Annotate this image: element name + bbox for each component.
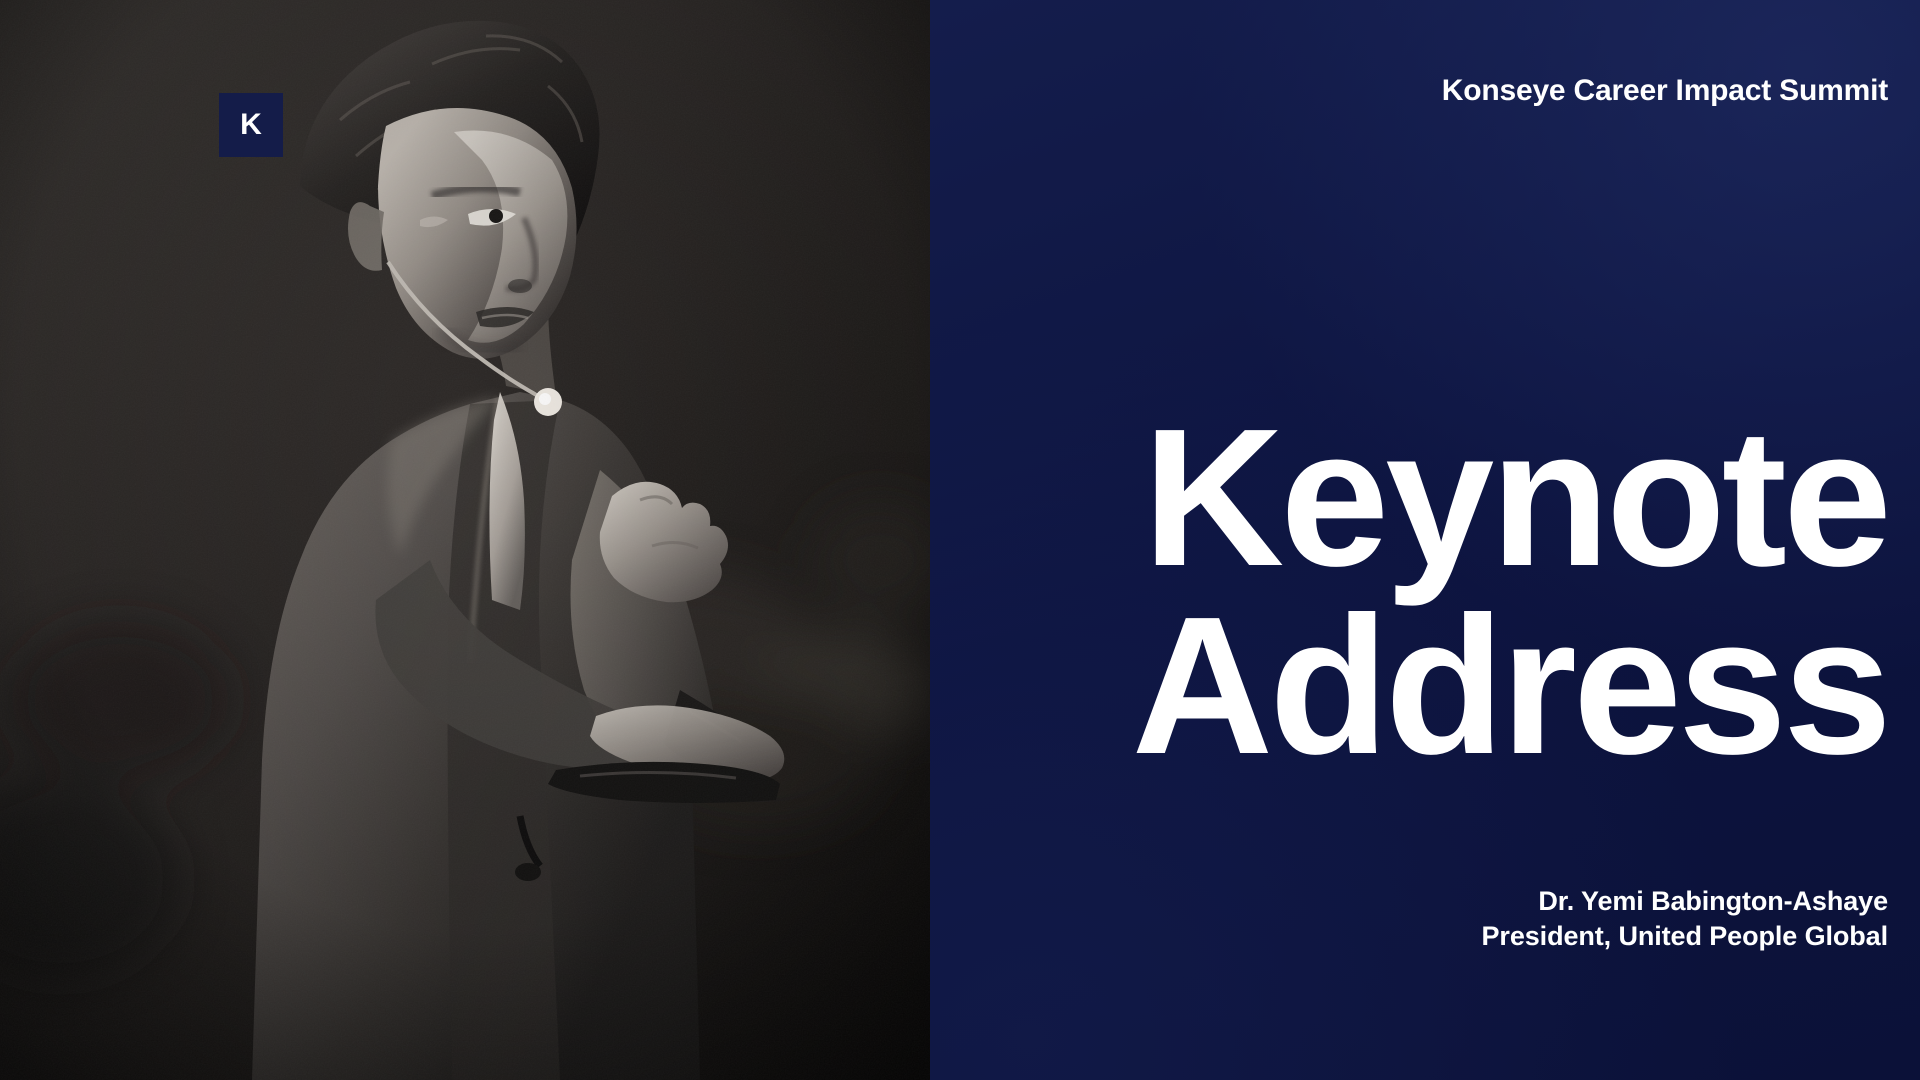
- speaker-role: President, United People Global: [1188, 919, 1888, 954]
- speaker-attribution: Dr. Yemi Babington-Ashaye President, Uni…: [1188, 884, 1888, 953]
- speaker-photo: K: [0, 0, 930, 1080]
- event-title: Konseye Career Impact Summit: [1188, 74, 1888, 107]
- konseye-logo-badge[interactable]: K: [219, 93, 283, 157]
- speaker-name: Dr. Yemi Babington-Ashaye: [1188, 884, 1888, 919]
- headline-line-2: Address: [988, 592, 1888, 780]
- content-panel: Konseye Career Impact Summit Keynote Add…: [930, 0, 1920, 1080]
- slide-headline: Keynote Address: [988, 404, 1888, 780]
- headline-line-1: Keynote: [988, 404, 1888, 592]
- logo-letter: K: [240, 110, 262, 140]
- speaker-photo-image: [0, 0, 930, 1080]
- presentation-slide: K Konseye Career Impact Summit Keynote A…: [0, 0, 1920, 1080]
